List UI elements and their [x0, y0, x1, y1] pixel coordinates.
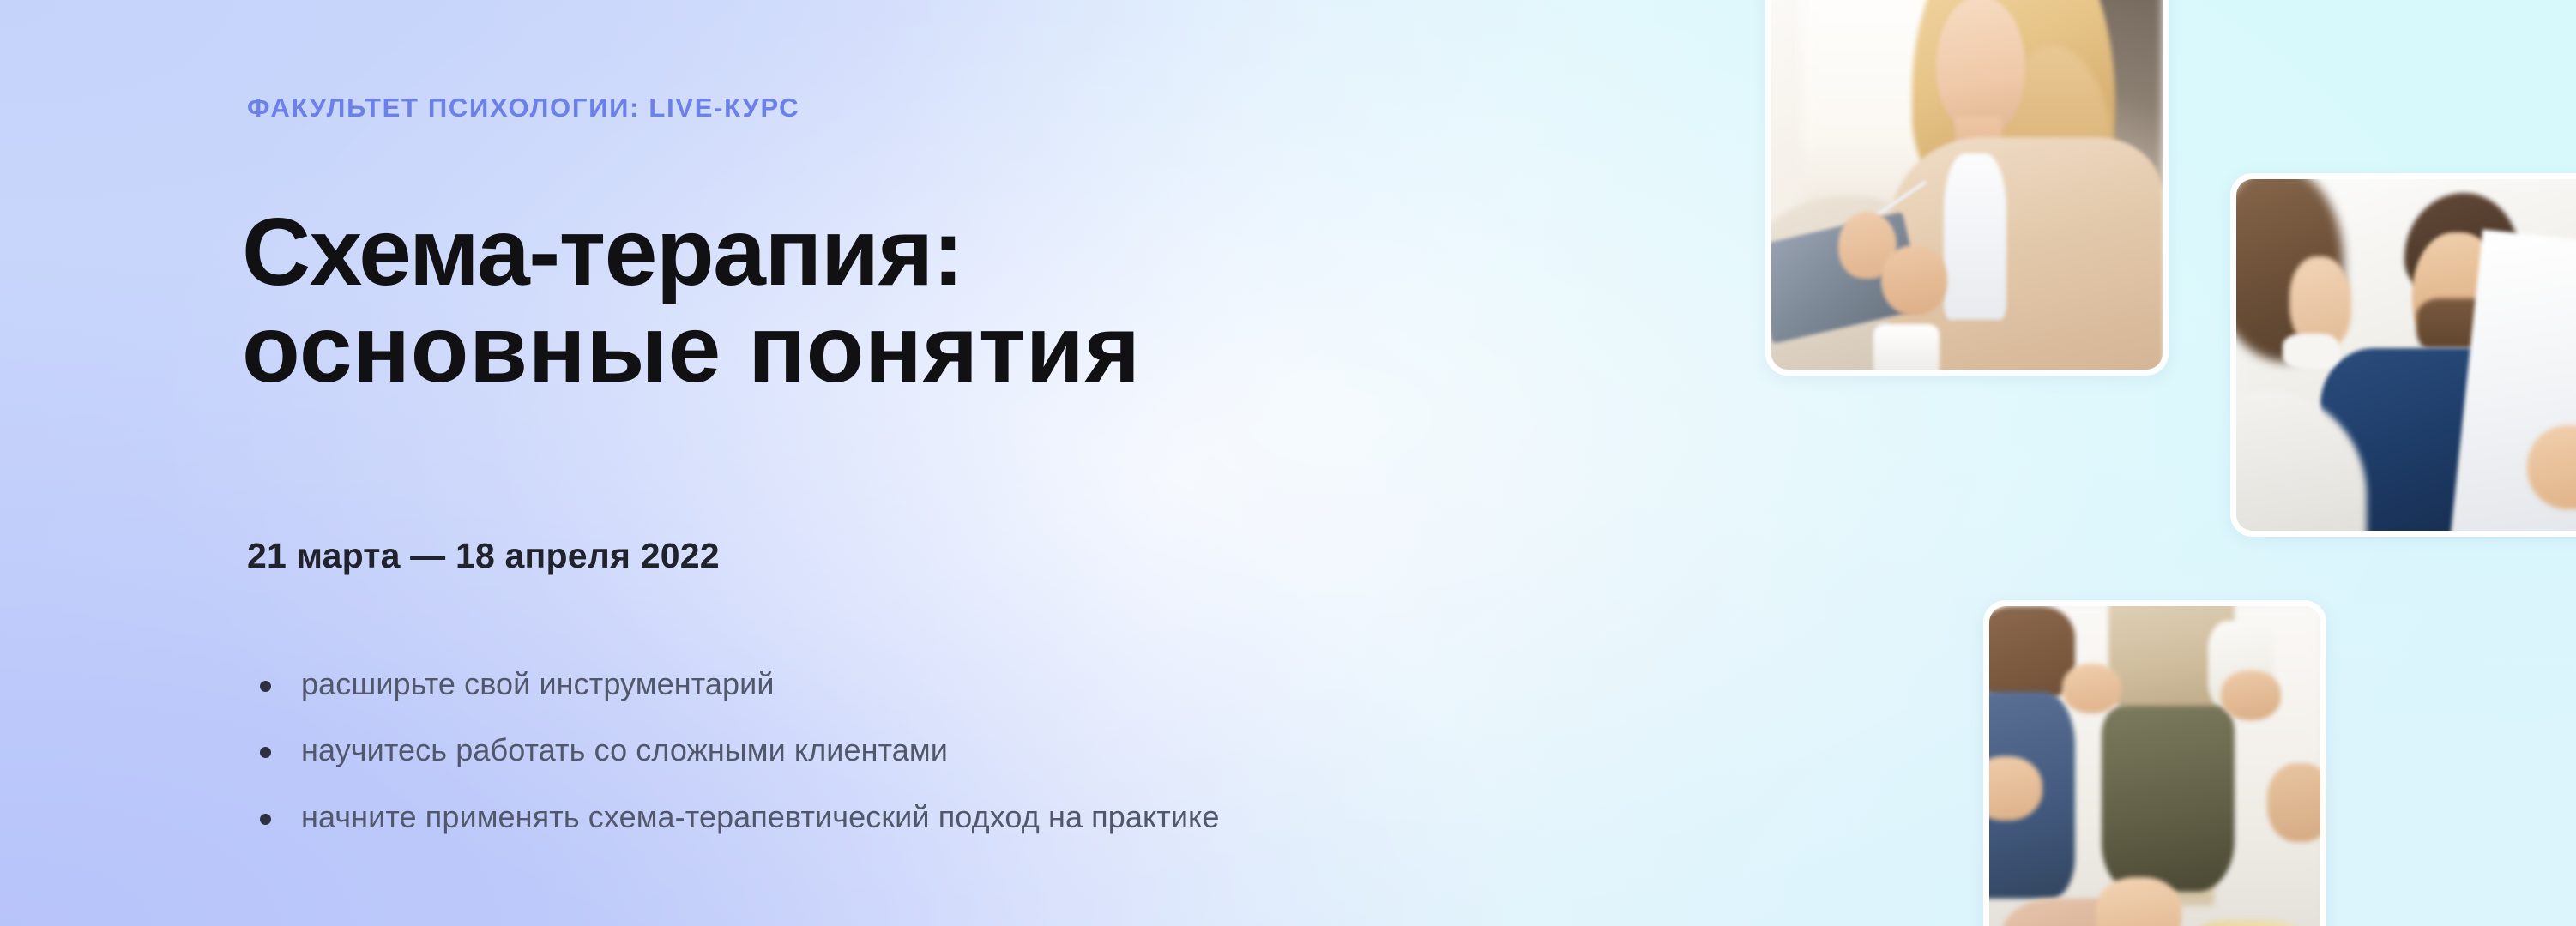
list-item: начните применять схема-терапевтический …: [254, 800, 1219, 834]
photo-card-group-therapy-circle: [1983, 600, 2326, 926]
list-item: научитесь работать со сложными клиентами: [254, 733, 1219, 767]
photo-card-therapist-with-tablet: [1765, 0, 2169, 376]
photo-image: [2236, 179, 2576, 531]
banner-title-line-1: Схема-терапия:: [242, 204, 1141, 301]
course-date-range: 21 марта — 18 апреля 2022: [247, 536, 720, 576]
photo-image: [1771, 0, 2163, 370]
list-item: расширьте свой инструментарий: [254, 667, 1219, 701]
photo-image: [1989, 606, 2320, 926]
course-promo-banner: ФАКУЛЬТЕТ ПСИХОЛОГИИ: LIVE-КУРС Схема-те…: [0, 0, 2576, 926]
photo-card-consultation-with-document: [2230, 173, 2576, 537]
banner-title: Схема-терапия: основные понятия: [242, 204, 1141, 398]
banner-title-line-2: основные понятия: [242, 301, 1141, 398]
banner-eyebrow-label: ФАКУЛЬТЕТ ПСИХОЛОГИИ: LIVE-КУРС: [247, 93, 799, 123]
course-benefits-list: расширьте свой инструментарий научитесь …: [254, 667, 1219, 866]
banner-text-column: ФАКУЛЬТЕТ ПСИХОЛОГИИ: LIVE-КУРС Схема-те…: [247, 0, 1791, 926]
